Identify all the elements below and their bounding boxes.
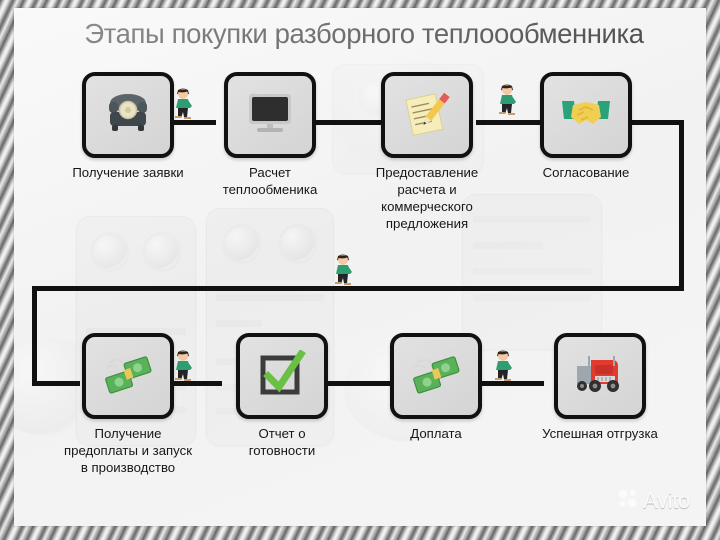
walking-person-icon xyxy=(172,86,194,120)
step-2-box[interactable] xyxy=(224,72,316,158)
walking-person-icon xyxy=(496,82,518,116)
step-1-box[interactable] xyxy=(82,72,174,158)
step-7-caption: Доплата xyxy=(366,426,506,443)
page-title: Этапы покупки разборного теплоообменника xyxy=(30,20,698,49)
delivery-truck-icon xyxy=(573,352,627,401)
step-5-box[interactable] xyxy=(82,333,174,419)
avito-watermark-text: Avito xyxy=(643,488,690,514)
step-6[interactable]: Отчет о готовности xyxy=(212,333,352,460)
computer-monitor-icon xyxy=(244,90,296,141)
step-7[interactable]: Доплата xyxy=(366,333,506,443)
money-with-wings-icon xyxy=(409,351,463,402)
connector-right-down xyxy=(679,120,684,290)
connector-left-down xyxy=(32,286,37,386)
step-8-box[interactable] xyxy=(554,333,646,419)
step-5-caption: Получение предоплаты и запуск в производ… xyxy=(58,426,198,477)
money-with-wings-icon xyxy=(101,351,155,402)
connector-return-left xyxy=(32,286,684,291)
step-1-caption: Получение заявки xyxy=(58,165,198,182)
step-6-caption: Отчет о готовности xyxy=(212,426,352,460)
avito-watermark: Avito xyxy=(617,488,690,514)
step-8[interactable]: Успешная отгрузка xyxy=(520,333,680,443)
walking-person-icon xyxy=(492,348,514,382)
walking-person-icon xyxy=(172,348,194,382)
avito-logo-icon xyxy=(617,488,638,514)
check-box-icon xyxy=(257,350,307,403)
step-3-caption: Предоставление расчета и коммерческого п… xyxy=(348,165,506,233)
step-6-box[interactable] xyxy=(236,333,328,419)
handshake-icon xyxy=(560,93,612,138)
step-4-caption: Согласование xyxy=(516,165,656,182)
walking-person-icon xyxy=(332,252,354,286)
step-3[interactable]: Предоставление расчета и коммерческого п… xyxy=(348,72,506,233)
step-2[interactable]: Расчет теплообменика xyxy=(200,72,340,199)
step-4-box[interactable] xyxy=(540,72,632,158)
step-2-caption: Расчет теплообменика xyxy=(200,165,340,199)
step-7-box[interactable] xyxy=(390,333,482,419)
memo-pencil-icon xyxy=(401,89,453,142)
step-8-caption: Успешная отгрузка xyxy=(520,426,680,443)
telephone-icon xyxy=(103,90,153,141)
step-4[interactable]: Согласование xyxy=(516,72,656,182)
poster-panel: Этапы покупки разборного теплоообменника xyxy=(14,8,706,526)
step-3-box[interactable] xyxy=(381,72,473,158)
